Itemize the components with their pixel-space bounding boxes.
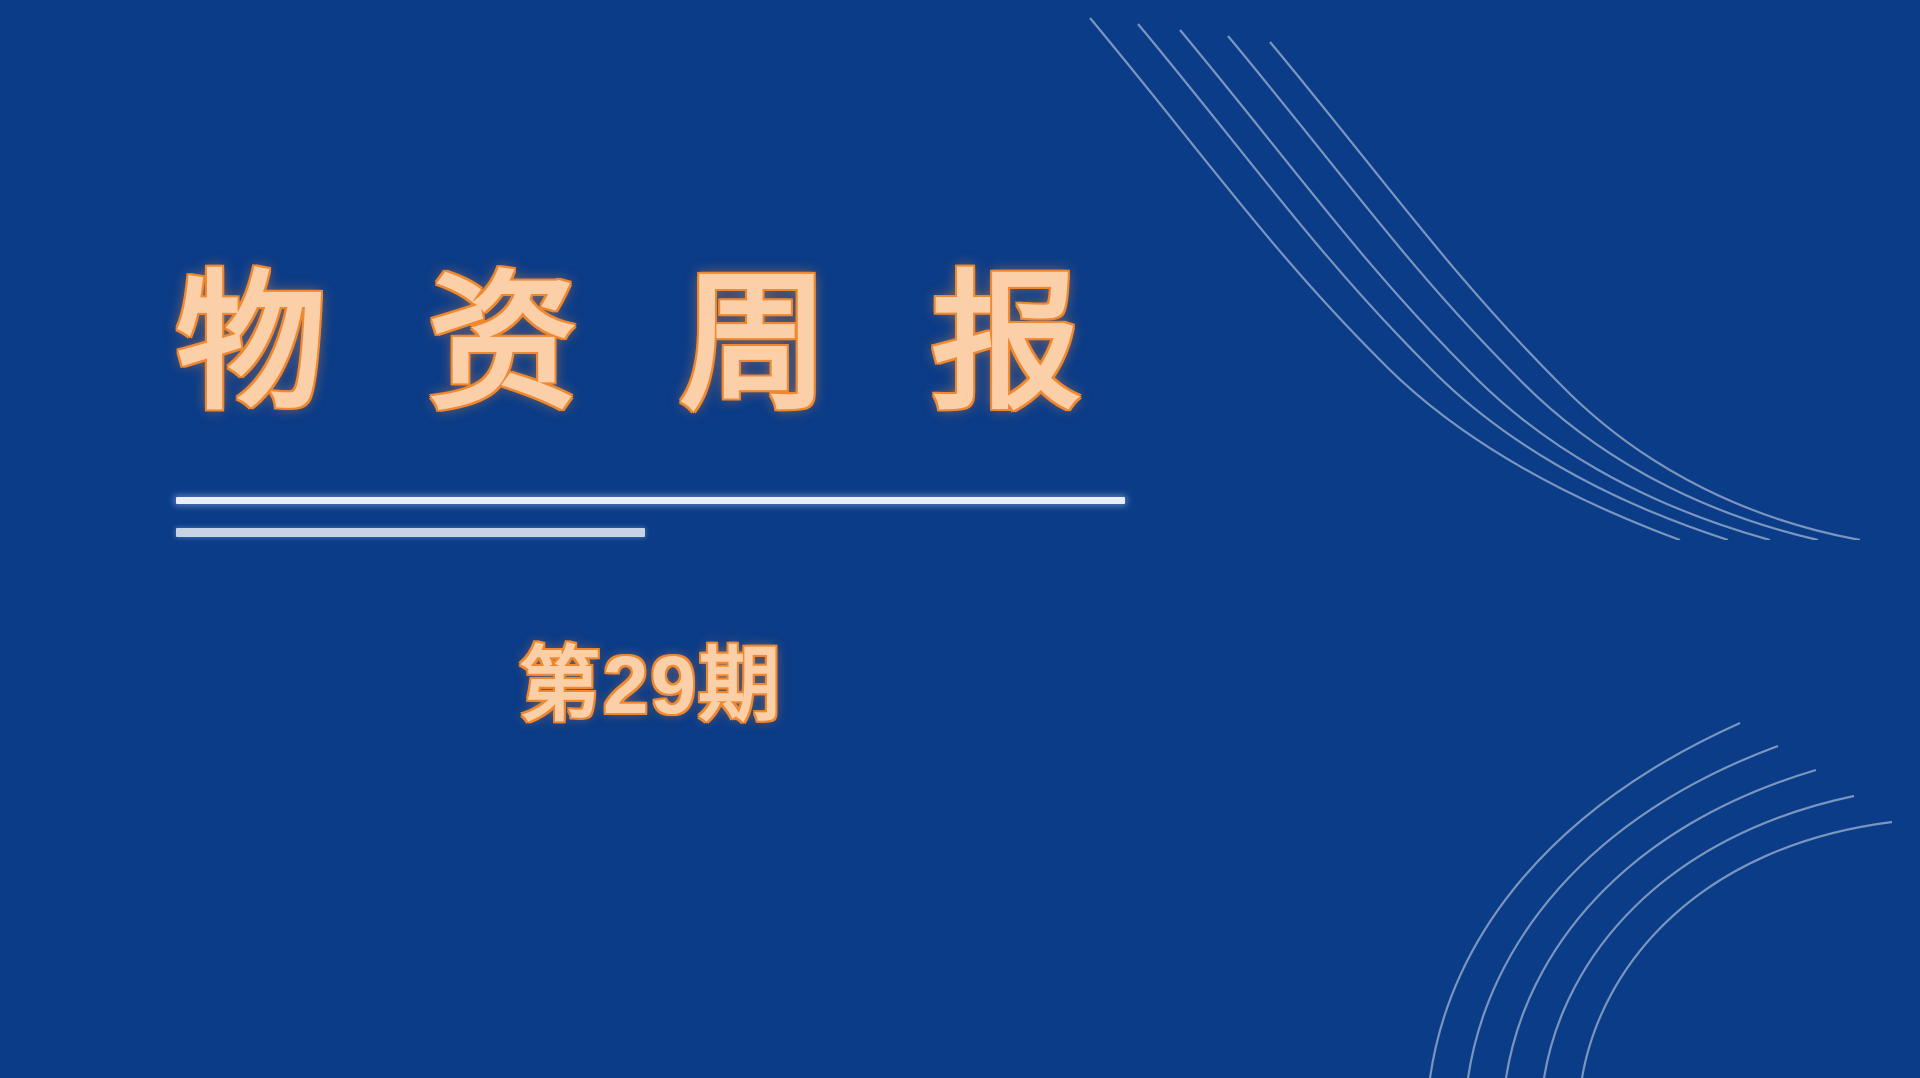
title-underline-group: [176, 497, 1176, 537]
issue-subtitle: 第29期: [176, 639, 1125, 733]
curved-lines-top-right-icon: [1080, 0, 1920, 540]
page-title: 物 资 周 报: [176, 268, 1176, 418]
title-block: 物 资 周 报: [176, 268, 1176, 418]
title-underline-secondary: [176, 528, 645, 537]
curved-lines-bottom-right-icon: [1220, 578, 1920, 1078]
curved-lines-bottom-right-decoration: [1220, 578, 1920, 1078]
title-underline-primary: [176, 497, 1125, 504]
curved-lines-top-right-decoration: [1080, 0, 1920, 540]
cover-slide: 物 资 周 报 第29期: [0, 0, 1920, 1078]
